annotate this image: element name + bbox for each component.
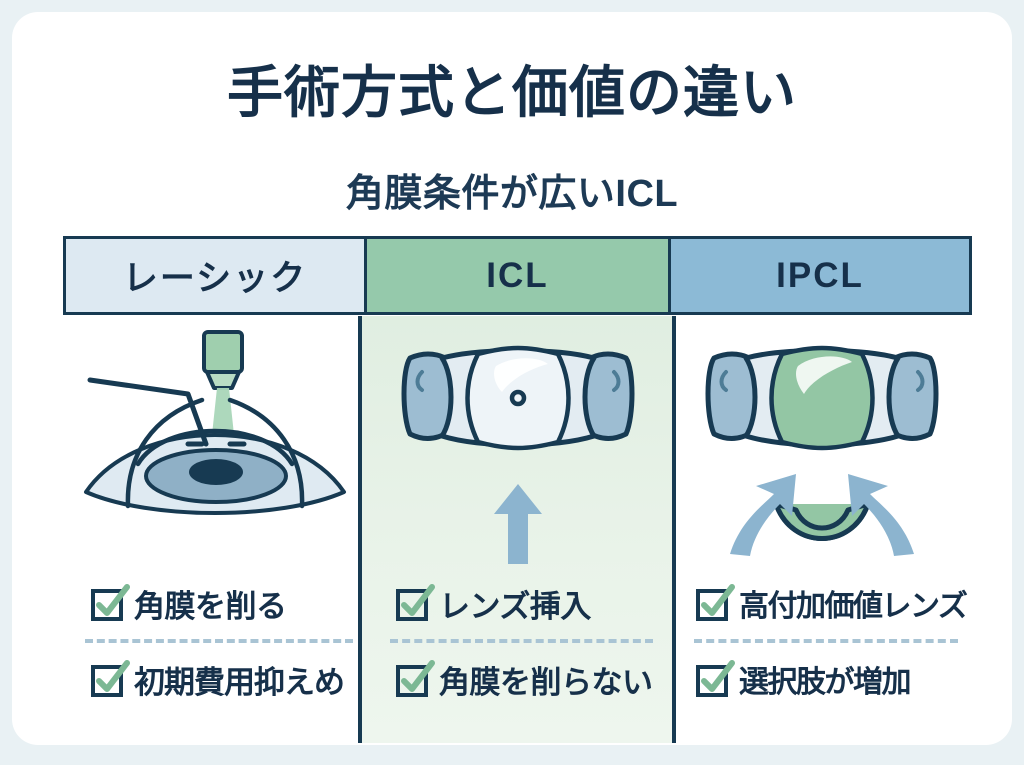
feature-item[interactable]: 角膜を削る <box>63 572 367 634</box>
feature-item[interactable]: 初期費用抑えめ <box>63 648 367 710</box>
feature-divider <box>85 639 353 643</box>
feature-label: 角膜を削らない <box>439 657 653 702</box>
feature-label: 高付加価値レンズ <box>739 581 966 625</box>
feature-item[interactable]: レンズ挿入 <box>368 572 667 634</box>
page-subtitle: 角膜条件が広いICL <box>12 162 1012 217</box>
page-title: 手術方式と価値の違い <box>12 64 1012 123</box>
checkbox-checked-icon <box>696 663 728 695</box>
eye-cross-section-with-laser-icon <box>80 324 350 564</box>
feature-list-lasik: 角膜を削る 初期費用抑えめ <box>63 572 367 732</box>
column-header-icl[interactable]: ICL <box>364 236 671 315</box>
feature-item[interactable]: 高付加価値レンズ <box>672 572 972 634</box>
feature-divider <box>694 639 958 643</box>
feature-label: 選択肢が増加 <box>739 657 910 701</box>
icl-lens-with-up-arrow-icon <box>396 324 640 564</box>
checkbox-checked-icon <box>696 587 728 619</box>
feature-item[interactable]: 選択肢が増加 <box>672 648 972 710</box>
checkbox-checked-icon <box>396 663 428 695</box>
content-card: 手術方式と価値の違い 角膜条件が広いICL レーシック ICL IPCL <box>12 12 1012 745</box>
feature-list-icl: レンズ挿入 角膜を削らない <box>368 572 667 732</box>
feature-item[interactable]: 角膜を削らない <box>368 648 667 710</box>
illustration-cell-lasik <box>63 324 367 570</box>
checkbox-checked-icon <box>396 587 428 619</box>
feature-divider <box>390 639 653 643</box>
column-header-label: レーシック <box>123 250 307 301</box>
feature-label: 角膜を削る <box>134 581 287 626</box>
illustration-cell-icl <box>368 324 667 570</box>
illustration-cell-ipcl <box>672 324 972 570</box>
comparison-table: レーシック ICL IPCL <box>51 236 972 733</box>
infographic-root: 手術方式と価値の違い 角膜条件が広いICL レーシック ICL IPCL <box>0 0 1024 765</box>
feature-label: 初期費用抑えめ <box>134 657 344 702</box>
ipcl-green-lens-with-diverging-arrows-icon <box>700 324 944 564</box>
checkbox-checked-icon <box>91 587 123 619</box>
column-header-ipcl[interactable]: IPCL <box>668 236 972 315</box>
feature-label: レンズ挿入 <box>439 581 591 626</box>
checkbox-checked-icon <box>91 663 123 695</box>
column-header-label: IPCL <box>776 256 864 296</box>
feature-list-ipcl: 高付加価値レンズ 選択肢が増加 <box>672 572 972 732</box>
column-header-label: ICL <box>486 256 548 296</box>
column-header-lasik[interactable]: レーシック <box>63 236 367 315</box>
